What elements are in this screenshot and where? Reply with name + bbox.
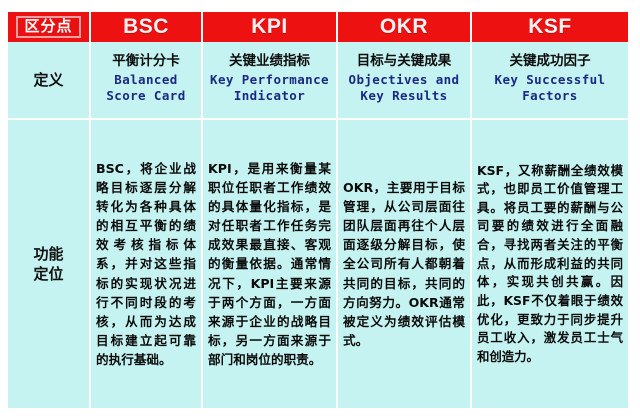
definition-cell-ksf: 关键成功因子 Key Successful Factors <box>472 42 628 118</box>
function-cell-bsc: BSC，将企业战略目标逐层分解转化为各种具体的相互平衡的绩效考核指标体系，并对这… <box>91 118 203 408</box>
row-label-cell-definition: 定义 <box>8 42 91 118</box>
header-title-ksf: KSF <box>528 15 572 39</box>
table-row-function-position: 功能 定位 BSC，将企业战略目标逐层分解转化为各种具体的相互平衡的绩效考核指标… <box>8 118 628 408</box>
function-bsc-text: BSC，将企业战略目标逐层分解转化为各种具体的相互平衡的绩效考核指标体系，并对这… <box>96 159 196 370</box>
definition-kpi-chinese: 关键业绩指标 <box>229 54 310 70</box>
comparison-table: 区分点 BSC KPI OKR KSF 定义 平衡计分卡 Balanced Sc… <box>8 12 628 408</box>
header-cell-row-label: 区分点 <box>8 12 91 42</box>
function-cell-kpi: KPI，是用来衡量某职位任职者工作绩效的具体量化指标，是对任职者工作任务完成效果… <box>203 118 338 408</box>
table-header-row: 区分点 BSC KPI OKR KSF <box>8 12 628 42</box>
row-label-function-position: 功能 定位 <box>8 120 89 408</box>
definition-cell-kpi: 关键业绩指标 Key Performance Indicator <box>203 42 338 118</box>
header-cell-bsc: BSC <box>91 12 203 42</box>
function-ksf-text: KSF，又称薪酬全绩效模式，也即员工价值管理工具。将员工要的薪酬与公司要的绩效进… <box>477 162 623 367</box>
row-label-cell-function-position: 功能 定位 <box>8 118 91 408</box>
header-cell-okr: OKR <box>338 12 472 42</box>
definition-cell-okr: 目标与关键成果 Objectives and Key Results <box>338 42 472 118</box>
definition-bsc-chinese: 平衡计分卡 <box>112 54 180 70</box>
row-label-header-text: 区分点 <box>16 16 80 38</box>
table-row-definition: 定义 平衡计分卡 Balanced Score Card 关键业绩指标 Key … <box>8 42 628 118</box>
definition-kpi-english: Key Performance Indicator <box>210 72 329 104</box>
function-kpi-text: KPI，是用来衡量某职位任职者工作绩效的具体量化指标，是对任职者工作任务完成效果… <box>208 159 331 370</box>
header-title-kpi: KPI <box>251 15 288 39</box>
function-cell-okr: OKR，主要用于目标管理，从公司层面往团队层面再往个人层面逐级分解目标，使全公司… <box>338 118 472 408</box>
definition-cell-bsc: 平衡计分卡 Balanced Score Card <box>91 42 203 118</box>
function-okr-text: OKR，主要用于目标管理，从公司层面往团队层面再往个人层面逐级分解目标，使全公司… <box>343 178 465 350</box>
function-cell-ksf: KSF，又称薪酬全绩效模式，也即员工价值管理工具。将员工要的薪酬与公司要的绩效进… <box>472 118 628 408</box>
header-cell-ksf: KSF <box>472 12 628 42</box>
definition-okr-chinese: 目标与关键成果 <box>357 54 452 70</box>
definition-ksf-chinese: 关键成功因子 <box>510 54 591 70</box>
definition-bsc-english: Balanced Score Card <box>106 72 185 104</box>
definition-ksf-english: Key Successful Factors <box>495 72 606 104</box>
header-title-bsc: BSC <box>123 15 169 39</box>
definition-okr-english: Objectives and Key Results <box>349 72 460 104</box>
header-cell-kpi: KPI <box>203 12 338 42</box>
row-label-definition: 定义 <box>8 42 89 118</box>
header-title-okr: OKR <box>380 15 428 39</box>
